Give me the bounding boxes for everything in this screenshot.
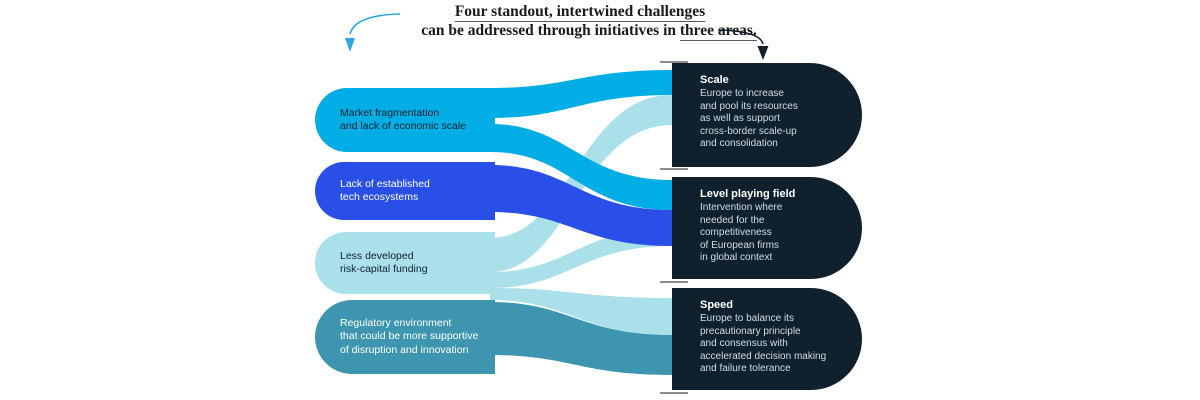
sankey-diagram: Four standout, intertwined challenges ca… [0,0,1200,400]
panel-tick-speed-bottom [660,392,688,394]
panel-tick-scale-top [660,61,688,63]
headline-arrows [0,0,1200,400]
curved-arrow-left [345,14,400,52]
panel-tick-level-bottom [660,281,688,283]
panel-tick-scale-bottom [660,168,688,170]
curved-arrow-right [718,30,769,60]
